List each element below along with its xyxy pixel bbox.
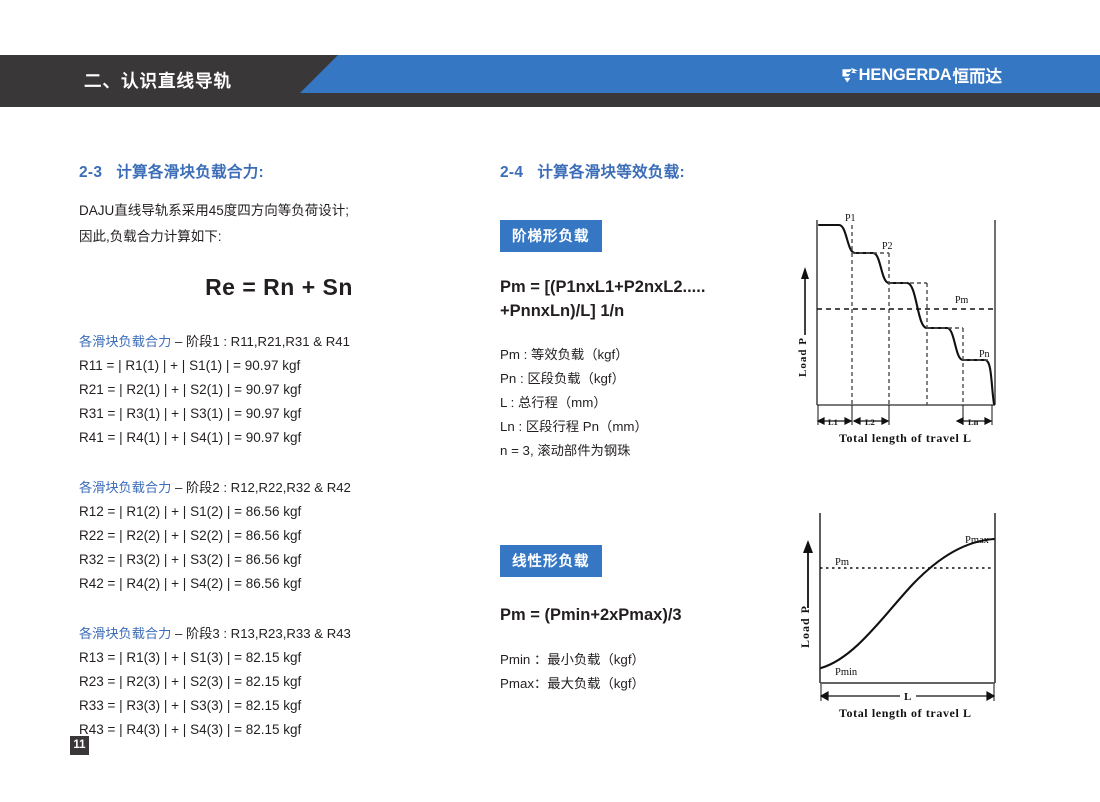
badge-linear-load: 线性形负载 <box>500 545 602 577</box>
annotation-p2: P2 <box>882 241 893 252</box>
linear-load-chart: Load P Pmin Pmax Pm L Total length of tr… <box>795 508 1015 723</box>
stepped-load-chart: Load P P1 P2 Pm Pn L1 L2 Ln Total l <box>795 205 1015 445</box>
section-heading-2-4: 2-4计算各滑块等效负载: <box>500 160 800 182</box>
annotation-pn: Pn <box>979 349 990 360</box>
logo-text-cn: 恒而达 <box>953 63 1003 87</box>
chapter-title: 二、认识直线导轨 <box>84 55 232 107</box>
right-column: 2-4计算各滑块等效负载: 阶梯形负载 Pm = [(P1nxL1+P2nxL2… <box>500 160 800 696</box>
load-group-tail: – 阶段2 : R12,R22,R32 & R42 <box>171 480 351 495</box>
segment-label-l2: L2 <box>865 417 875 427</box>
definition-line: L : 总行程（mm） <box>500 391 800 415</box>
equation-line: R31 = | R3(1) | + | S3(1) | = 90.97 kgf <box>79 402 479 426</box>
page-number: 11 <box>70 736 89 755</box>
y-axis-arrow-head <box>803 540 813 553</box>
equation-line: R43 = | R4(3) | + | S4(3) | = 82.15 kgf <box>79 718 479 742</box>
annotation-pm: Pm <box>955 295 969 306</box>
brand-logo: HENGERDA 恒而达 <box>841 63 1002 87</box>
equation-line: R22 = | R2(2) | + | S2(2) | = 86.56 kgf <box>79 524 479 548</box>
equation-line: R23 = | R2(3) | + | S2(3) | = 82.15 kgf <box>79 670 479 694</box>
chart-xlabel: Total length of travel L <box>839 431 972 445</box>
definition-line: n = 3, 滚动部件为钢珠 <box>500 439 800 463</box>
step-load-curve <box>819 225 994 404</box>
intro-line: 因此,负载合力计算如下: <box>79 224 479 250</box>
logo-text: HENGERDA <box>859 66 952 85</box>
chart-xlabel: Total length of travel L <box>839 706 972 720</box>
load-group-tail: – 阶段3 : R13,R23,R33 & R43 <box>171 626 351 641</box>
load-group-title: 各滑块负载合力 – 阶段2 : R12,R22,R32 & R42 <box>79 476 479 500</box>
left-column: 2-3计算各滑块负载合力: DAJU直线导轨系采用45度四方向等负荷设计; 因此… <box>79 160 479 742</box>
section-title: 计算各滑块负载合力: <box>116 164 264 181</box>
equation-line: R33 = | R3(3) | + | S3(3) | = 82.15 kgf <box>79 694 479 718</box>
annotation-p1: P1 <box>845 213 856 224</box>
segment-measures <box>818 405 992 425</box>
definition-line: Pmin ：最小负载（kgf） <box>500 648 800 672</box>
equation-line: R11 = | R1(1) | + | S1(1) | = 90.97 kgf <box>79 354 479 378</box>
section-heading-2-3: 2-3计算各滑块负载合力: <box>79 160 479 182</box>
formula-re: Re = Rn + Sn <box>79 274 479 301</box>
definition-line: Ln : 区段行程 Pn（mm） <box>500 415 800 439</box>
definition-line: Pm : 等效负载（kgf） <box>500 343 800 367</box>
section-title: 计算各滑块等效负载: <box>537 164 685 181</box>
load-group-title: 各滑块负载合力 – 阶段3 : R13,R23,R33 & R43 <box>79 622 479 646</box>
load-group: 各滑块负载合力 – 阶段1 : R11,R21,R31 & R41 R11 = … <box>79 330 479 450</box>
load-group-title: 各滑块负载合力 – 阶段1 : R11,R21,R31 & R41 <box>79 330 479 354</box>
annotation-pmin: Pmin <box>835 667 858 678</box>
equation-line: R42 = | R4(2) | + | S4(2) | = 86.56 kgf <box>79 572 479 596</box>
equation-line: R21 = | R2(1) | + | S2(1) | = 90.97 kgf <box>79 378 479 402</box>
segment-label-l1: L1 <box>828 417 838 427</box>
definition-line: Pmax：最大负载（kgf） <box>500 672 800 696</box>
equation-line: R41 = | R4(1) | + | S4(1) | = 90.97 kgf <box>79 426 479 450</box>
load-group: 各滑块负载合力 – 阶段2 : R12,R22,R32 & R42 R12 = … <box>79 476 479 596</box>
formula-pm-step-line1: Pm = [(P1nxL1+P2nxL2..... <box>500 275 800 299</box>
chart-ylabel: Load P <box>797 337 809 377</box>
formula-pm-linear: Pm = (Pmin+2xPmax)/3 <box>500 603 800 627</box>
load-group-label: 各滑块负载合力 <box>79 626 171 641</box>
equation-line: R32 = | R3(2) | + | S3(2) | = 86.56 kgf <box>79 548 479 572</box>
page-header: 二、认识直线导轨 HENGERDA 恒而达 <box>0 55 1100 107</box>
equation-line: R12 = | R1(2) | + | S1(2) | = 86.56 kgf <box>79 500 479 524</box>
segment-label-l: L <box>904 691 911 703</box>
section-number: 2-4 <box>500 164 523 181</box>
formula-pm-step-line2: +PnnxLn)/L] 1/n <box>500 299 800 323</box>
annotation-pm: Pm <box>835 557 849 568</box>
intro-line: DAJU直线导轨系采用45度四方向等负荷设计; <box>79 198 479 224</box>
chart-ylabel: Load P <box>798 605 812 648</box>
load-group-label: 各滑块负载合力 <box>79 334 171 349</box>
eagle-mark-icon <box>841 66 859 84</box>
load-group-tail: – 阶段1 : R11,R21,R31 & R41 <box>171 334 350 349</box>
load-group: 各滑块负载合力 – 阶段3 : R13,R23,R33 & R43 R13 = … <box>79 622 479 742</box>
definition-line: Pn : 区段负载（kgf） <box>500 367 800 391</box>
equation-line: R13 = | R1(3) | + | S1(3) | = 82.15 kgf <box>79 646 479 670</box>
annotation-pmax: Pmax <box>965 535 990 546</box>
load-group-label: 各滑块负载合力 <box>79 480 171 495</box>
y-axis-arrow-head <box>801 267 809 279</box>
segment-label-ln: Ln <box>968 417 979 427</box>
section-number: 2-3 <box>79 164 102 181</box>
badge-stepped-load: 阶梯形负载 <box>500 220 602 252</box>
